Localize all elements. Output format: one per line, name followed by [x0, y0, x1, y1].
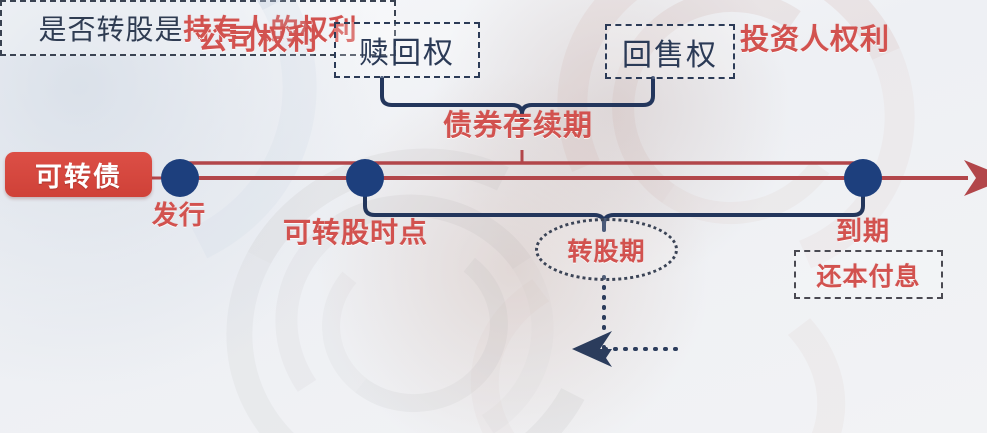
box-principal-interest-repayment: 还本付息 [794, 250, 943, 299]
box-redemption-right: 赎回权 [334, 22, 480, 78]
label-bond-duration: 债券存续期 [443, 112, 593, 141]
down-arrow-icon [596, 349, 612, 361]
box-putback-right-label: 回售权 [622, 30, 718, 74]
conversion-period-label: 转股期 [567, 232, 645, 268]
timeline-node-maturity [844, 159, 882, 197]
label-company-rights: 公司权利 [198, 26, 318, 55]
conversion-period-ellipse: 转股期 [535, 218, 678, 281]
watermark-swirl-3 [313, 229, 516, 421]
watermark-swirl-2 [251, 169, 578, 433]
timeline-node-issue [161, 159, 199, 197]
box-principal-interest-repayment-label: 还本付息 [816, 257, 920, 293]
diagram-canvas: 可转债 公司权利 投资人权利 赎回权 回售权 债券存续期 发行 可转股时点 到期… [0, 0, 987, 433]
label-timeline-node-convertible-point: 可转股时点 [283, 219, 428, 247]
bottom-note-plain-text: 是否转股是 [38, 8, 183, 48]
label-timeline-node-issue: 发行 [152, 202, 206, 228]
timeline-node-convertible-point [346, 159, 384, 197]
box-redemption-right-label: 赎回权 [359, 28, 455, 72]
label-timeline-node-maturity: 到期 [836, 218, 890, 244]
box-putback-right: 回售权 [605, 24, 735, 79]
label-investor-rights: 投资人权利 [740, 26, 890, 55]
convertible-bond-chip-label: 可转债 [35, 155, 122, 194]
bond-duration-bracket [182, 163, 857, 172]
convertible-bond-chip: 可转债 [5, 152, 152, 197]
